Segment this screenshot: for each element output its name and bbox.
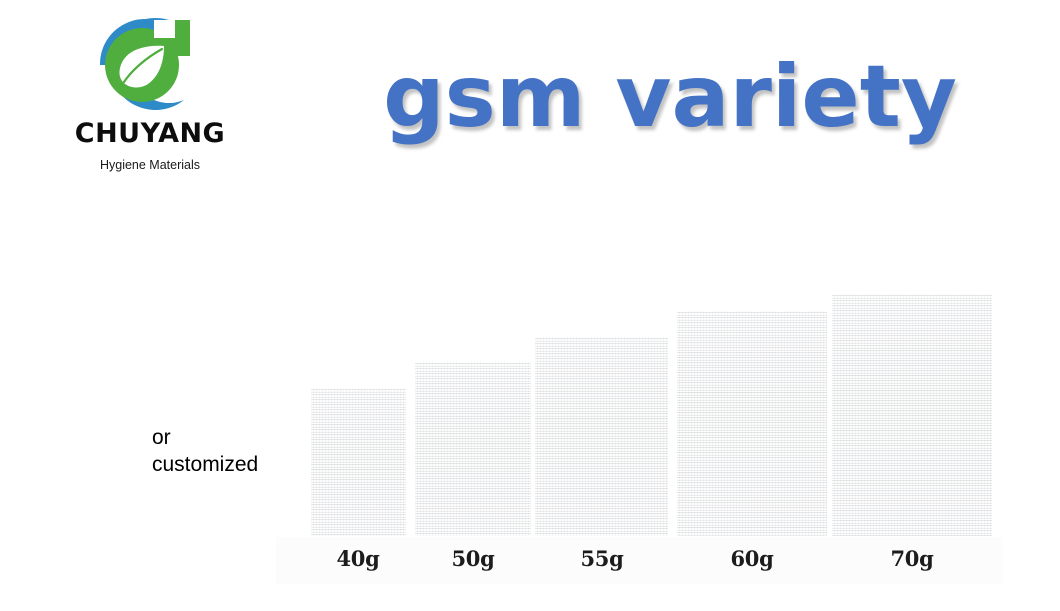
bar-label-70g: 70g xyxy=(862,548,962,569)
label-strip xyxy=(276,537,1002,584)
bar-50g xyxy=(415,362,531,536)
company-logo: CHUYANG Hygiene Materials xyxy=(52,16,248,172)
side-note-line-2: customized xyxy=(152,452,312,479)
bar-55g xyxy=(535,337,668,536)
bar-label-50g: 50g xyxy=(423,548,523,569)
bar-70g xyxy=(832,294,992,536)
bar-label-55g: 55g xyxy=(552,548,652,569)
leaf-in-circle-icon xyxy=(80,16,210,114)
bar-60g xyxy=(677,311,827,536)
logo-tagline: Hygiene Materials xyxy=(52,159,248,172)
bar-40g xyxy=(311,388,406,536)
page-title: gsm variety xyxy=(330,52,1010,142)
bar-label-40g: 40g xyxy=(308,548,408,569)
side-note: or customized xyxy=(152,425,312,479)
logo-wordmark: CHUYANG xyxy=(52,120,248,147)
side-note-line-1: or xyxy=(152,425,312,452)
slide-canvas: 40g 50g 55g 60g 70g CHUYANG Hygiene Mate… xyxy=(0,0,1060,611)
bar-label-60g: 60g xyxy=(702,548,802,569)
